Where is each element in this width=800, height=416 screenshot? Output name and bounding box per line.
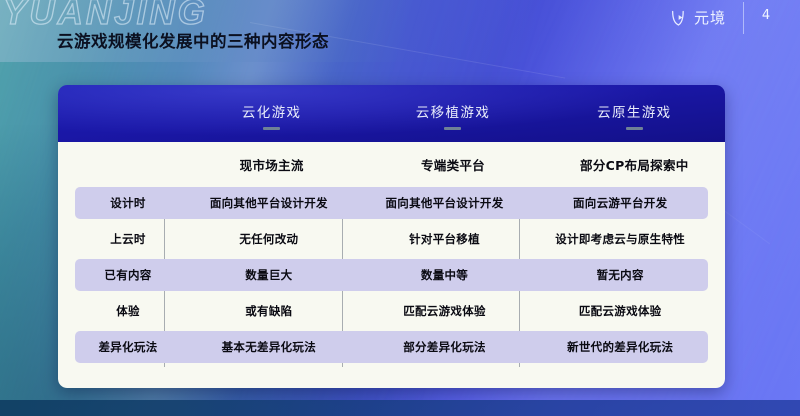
column-subheader-cloudified: 现市场主流 xyxy=(181,155,362,174)
card-body: 现市场主流 专端类平台 部分CP布局探索中 设计时 面向其他平台设计开发 面向其… xyxy=(58,142,725,388)
table-cell: 面向云游平台开发 xyxy=(532,195,708,211)
header-row-spacer xyxy=(58,85,181,142)
table-cell: 数量巨大 xyxy=(181,267,357,283)
table-row: 差异化玩法 基本无差异化玩法 部分差异化玩法 新世代的差异化玩法 xyxy=(75,331,708,363)
column-subheader-ported: 专端类平台 xyxy=(362,155,543,174)
table-cell: 新世代的差异化玩法 xyxy=(532,339,708,355)
table-cell: 针对平台移植 xyxy=(357,231,533,247)
column-header-underline xyxy=(626,127,643,130)
row-label: 体验 xyxy=(75,303,181,319)
table-cell: 面向其他平台设计开发 xyxy=(181,195,357,211)
table-cell: 面向其他平台设计开发 xyxy=(357,195,533,211)
column-header-underline xyxy=(444,127,461,130)
table-row: 设计时 面向其他平台设计开发 面向其他平台设计开发 面向云游平台开发 xyxy=(75,187,708,219)
column-header-underline xyxy=(263,127,280,130)
brand-lockup: 元境 xyxy=(669,7,726,28)
table-cell: 匹配云游戏体验 xyxy=(532,303,708,319)
column-subheader-row: 现市场主流 专端类平台 部分CP布局探索中 xyxy=(58,142,725,187)
page-number: 4 xyxy=(754,8,778,23)
row-label: 设计时 xyxy=(75,195,181,211)
column-header-row: 云化游戏 云移植游戏 云原生游戏 xyxy=(58,85,725,142)
column-subheader-cloudnative: 部分CP布局探索中 xyxy=(544,155,725,174)
bottom-strip xyxy=(0,400,800,416)
row-label: 已有内容 xyxy=(75,267,181,283)
table-row: 体验 或有缺陷 匹配云游戏体验 匹配云游戏体验 xyxy=(75,295,708,327)
table-cell: 暂无内容 xyxy=(532,267,708,283)
brand-name: 元境 xyxy=(694,7,726,28)
table-rows: 设计时 面向其他平台设计开发 面向其他平台设计开发 面向云游平台开发 上云时 无… xyxy=(58,187,725,363)
table-cell: 设计即考虑云与原生特性 xyxy=(532,231,708,247)
column-header-label: 云移植游戏 xyxy=(416,101,491,121)
card-header: 云化游戏 云移植游戏 云原生游戏 xyxy=(58,85,725,142)
column-header-cloudnative: 云原生游戏 xyxy=(544,85,725,142)
column-header-ported: 云移植游戏 xyxy=(362,85,543,142)
row-label: 上云时 xyxy=(75,231,181,247)
brand-divider xyxy=(743,2,744,34)
page-title: 云游戏规模化发展中的三种内容形态 xyxy=(57,28,329,52)
table-cell: 基本无差异化玩法 xyxy=(181,339,357,355)
column-header-cloudified: 云化游戏 xyxy=(181,85,362,142)
table-row: 上云时 无任何改动 针对平台移植 设计即考虑云与原生特性 xyxy=(75,223,708,255)
column-header-label: 云原生游戏 xyxy=(597,101,672,121)
yuanjing-logo-icon xyxy=(669,8,689,28)
row-label: 差异化玩法 xyxy=(75,339,181,355)
table-cell: 数量中等 xyxy=(357,267,533,283)
comparison-card: 云化游戏 云移植游戏 云原生游戏 现市场主流 专端类平台 部分CP布局探索中 xyxy=(58,85,725,388)
table-cell: 或有缺陷 xyxy=(181,303,357,319)
table-cell: 部分差异化玩法 xyxy=(357,339,533,355)
table-row: 已有内容 数量巨大 数量中等 暂无内容 xyxy=(75,259,708,291)
table-cell: 匹配云游戏体验 xyxy=(357,303,533,319)
column-header-label: 云化游戏 xyxy=(242,101,302,121)
slide-root: YUANJING 元境 4 云游戏规模化发展中的三种内容形态 云化游戏 云移植游… xyxy=(0,0,800,416)
table-cell: 无任何改动 xyxy=(181,231,357,247)
